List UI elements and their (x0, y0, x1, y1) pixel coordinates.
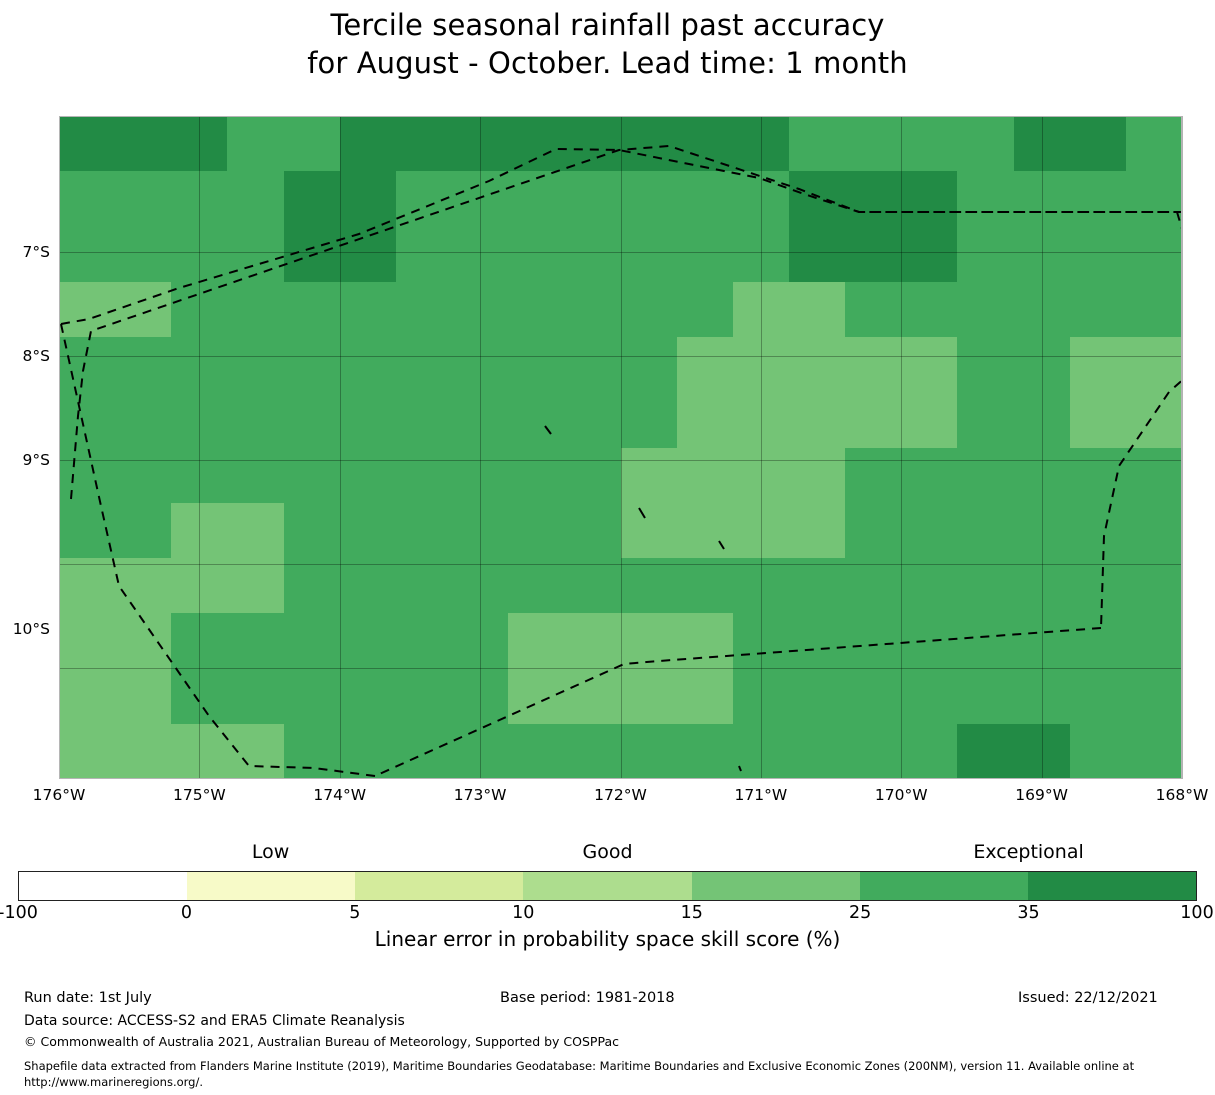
colorbar-band-label: Good (498, 841, 718, 863)
heatmap-cell (901, 669, 957, 724)
heatmap-cell (396, 392, 452, 447)
heatmap-cell (733, 116, 789, 171)
heatmap-cell (115, 392, 171, 447)
heatmap-cell (284, 448, 340, 503)
heatmap-cell (621, 448, 677, 503)
heatmap-cell (901, 282, 957, 337)
heatmap-cell (340, 669, 396, 724)
heatmap-cell (115, 613, 171, 668)
heatmap-cell (227, 503, 283, 558)
heatmap-cell (1014, 558, 1070, 613)
heatmap-cell (452, 337, 508, 392)
heatmap-cell (396, 448, 452, 503)
colorbar-segment (692, 872, 860, 900)
heatmap-cell (1070, 282, 1126, 337)
heatmap-cell (115, 669, 171, 724)
heatmap-cell (284, 392, 340, 447)
heatmap-cell (59, 724, 115, 779)
colorbar-segment (1028, 872, 1196, 900)
heatmap-cell (1126, 116, 1182, 171)
heatmap-cell (564, 613, 620, 668)
heatmap-cell (1070, 171, 1126, 226)
heatmap-cell (564, 724, 620, 779)
heatmap-cell (1126, 448, 1182, 503)
heatmap-cell (845, 116, 901, 171)
heatmap-cell (957, 724, 1013, 779)
heatmap-cell (171, 724, 227, 779)
heatmap-cell (901, 116, 957, 171)
heatmap-cell (396, 613, 452, 668)
y-axis-tick-label: 8°S (0, 347, 50, 365)
map-plot-area (59, 116, 1182, 779)
heatmap-cell (508, 337, 564, 392)
heatmap-cell (227, 448, 283, 503)
heatmap-cell (340, 558, 396, 613)
footer-base-period: Base period: 1981-2018 (500, 990, 675, 1006)
heatmap-cell (845, 171, 901, 226)
heatmap-cell (171, 116, 227, 171)
heatmap-cell (733, 227, 789, 282)
heatmap-cell (1014, 282, 1070, 337)
heatmap-cell (508, 282, 564, 337)
heatmap-cell (677, 227, 733, 282)
colorbar-segment (19, 872, 187, 900)
heatmap-cell (564, 227, 620, 282)
colorbar-segment (523, 872, 691, 900)
heatmap-cell (59, 503, 115, 558)
heatmap-cell (340, 503, 396, 558)
heatmap-cell (677, 724, 733, 779)
heatmap-cell (171, 613, 227, 668)
heatmap-cell (452, 558, 508, 613)
heatmap-cell (901, 558, 957, 613)
heatmap-cell (227, 227, 283, 282)
heatmap-cell (284, 227, 340, 282)
heatmap-cell (1014, 337, 1070, 392)
heatmap-cell (845, 282, 901, 337)
heatmap-cell (957, 613, 1013, 668)
heatmap-cell (452, 282, 508, 337)
colorbar-tick-label: 100 (1137, 903, 1215, 923)
heatmap-cell (1014, 116, 1070, 171)
heatmap-cell (452, 392, 508, 447)
heatmap-cell (789, 503, 845, 558)
colorbar-tick-label: 15 (632, 903, 752, 923)
colorbar-segment (355, 872, 523, 900)
heatmap-cell (171, 171, 227, 226)
heatmap-cell (115, 558, 171, 613)
colorbar-segment (187, 872, 355, 900)
heatmap-cell (621, 669, 677, 724)
heatmap-cell (621, 171, 677, 226)
colorbar-band-label: Low (161, 841, 381, 863)
heatmap-cell (340, 724, 396, 779)
heatmap-cell (1014, 448, 1070, 503)
heatmap-cell (564, 448, 620, 503)
heatmap-cell (340, 392, 396, 447)
heatmap-cell (845, 724, 901, 779)
heatmap-cell (621, 613, 677, 668)
heatmap-cell (1014, 503, 1070, 558)
heatmap-cell (284, 171, 340, 226)
heatmap-cell (227, 171, 283, 226)
heatmap-cell (452, 724, 508, 779)
heatmap-cell (1126, 392, 1182, 447)
heatmap-cell (845, 613, 901, 668)
heatmap-cell (733, 724, 789, 779)
heatmap-cell (508, 503, 564, 558)
heatmap-cell (396, 669, 452, 724)
heatmap-cell (789, 337, 845, 392)
heatmap-cell (227, 337, 283, 392)
heatmap-cell (677, 448, 733, 503)
heatmap-cell (957, 227, 1013, 282)
heatmap-cell (1070, 724, 1126, 779)
heatmap-cell (845, 558, 901, 613)
heatmap-cell (845, 392, 901, 447)
heatmap-cell (957, 116, 1013, 171)
colorbar-tick-label: 5 (295, 903, 415, 923)
heatmap-cell (396, 116, 452, 171)
heatmap-cell (115, 503, 171, 558)
heatmap-cell (789, 724, 845, 779)
heatmap-cell (115, 724, 171, 779)
heatmap-cell (1014, 392, 1070, 447)
heatmap-cell (733, 392, 789, 447)
footer-data-source: Data source: ACCESS-S2 and ERA5 Climate … (24, 1013, 405, 1029)
rainfall-accuracy-heatmap (59, 116, 1182, 779)
heatmap-cell (1014, 669, 1070, 724)
heatmap-cell (845, 337, 901, 392)
heatmap-cell (115, 282, 171, 337)
heatmap-cell (1126, 337, 1182, 392)
title-line-1: Tercile seasonal rainfall past accuracy (0, 6, 1215, 44)
heatmap-cell (508, 116, 564, 171)
footer-copyright: © Commonwealth of Australia 2021, Austra… (24, 1034, 619, 1049)
heatmap-cell (227, 116, 283, 171)
heatmap-cell (957, 503, 1013, 558)
heatmap-cell (284, 558, 340, 613)
heatmap-cell (1126, 227, 1182, 282)
heatmap-cell (564, 171, 620, 226)
heatmap-cell (508, 227, 564, 282)
heatmap-cell (845, 227, 901, 282)
heatmap-cell (284, 613, 340, 668)
heatmap-cell (1126, 669, 1182, 724)
heatmap-cell (340, 116, 396, 171)
heatmap-cell (1014, 227, 1070, 282)
heatmap-cell (901, 392, 957, 447)
colorbar-segment (860, 872, 1028, 900)
colorbar-tick-label: 0 (126, 903, 246, 923)
x-axis-tick-label: 175°W (154, 786, 244, 804)
heatmap-cell (171, 227, 227, 282)
heatmap-cell (957, 448, 1013, 503)
heatmap-cell (733, 337, 789, 392)
heatmap-cell (452, 116, 508, 171)
heatmap-cell (1070, 503, 1126, 558)
heatmap-cell (901, 613, 957, 668)
page-title: Tercile seasonal rainfall past accuracy … (0, 6, 1215, 82)
gridline-vertical (1182, 116, 1183, 779)
x-axis-tick-label: 172°W (576, 786, 666, 804)
heatmap-cell (1014, 613, 1070, 668)
heatmap-cell (621, 227, 677, 282)
heatmap-cell (1070, 337, 1126, 392)
heatmap-cell (621, 558, 677, 613)
heatmap-cell (845, 669, 901, 724)
heatmap-cell (171, 392, 227, 447)
heatmap-cell (733, 558, 789, 613)
heatmap-cell (677, 613, 733, 668)
heatmap-cell (340, 171, 396, 226)
heatmap-cell (677, 337, 733, 392)
heatmap-cell (957, 558, 1013, 613)
heatmap-cell (340, 448, 396, 503)
heatmap-cell (340, 227, 396, 282)
heatmap-cell (171, 337, 227, 392)
heatmap-cell (171, 669, 227, 724)
heatmap-cell (115, 448, 171, 503)
heatmap-cell (621, 116, 677, 171)
heatmap-cell (621, 282, 677, 337)
heatmap-cell (733, 669, 789, 724)
heatmap-cell (227, 724, 283, 779)
y-axis-tick-label: 9°S (0, 451, 50, 469)
heatmap-cell (115, 116, 171, 171)
heatmap-cell (1126, 558, 1182, 613)
heatmap-cell (677, 171, 733, 226)
heatmap-cell (1070, 227, 1126, 282)
colorbar-tick-label: 25 (800, 903, 920, 923)
heatmap-cell (677, 669, 733, 724)
heatmap-cell (396, 558, 452, 613)
heatmap-cell (227, 613, 283, 668)
heatmap-cell (901, 503, 957, 558)
heatmap-cell (508, 171, 564, 226)
heatmap-cell (59, 116, 115, 171)
heatmap-cell (284, 116, 340, 171)
heatmap-cell (508, 724, 564, 779)
heatmap-cell (1126, 724, 1182, 779)
heatmap-cell (452, 448, 508, 503)
heatmap-cell (59, 669, 115, 724)
heatmap-cell (789, 558, 845, 613)
heatmap-cell (677, 282, 733, 337)
heatmap-cell (227, 669, 283, 724)
x-axis-tick-label: 171°W (716, 786, 806, 804)
heatmap-cell (59, 282, 115, 337)
heatmap-cell (396, 724, 452, 779)
heatmap-cell (789, 448, 845, 503)
heatmap-cell (1014, 724, 1070, 779)
colorbar-caption: Linear error in probability space skill … (0, 927, 1215, 951)
heatmap-cell (284, 337, 340, 392)
heatmap-cell (901, 337, 957, 392)
heatmap-cell (1070, 116, 1126, 171)
heatmap-cell (789, 227, 845, 282)
heatmap-cell (733, 171, 789, 226)
heatmap-cell (621, 392, 677, 447)
heatmap-cell (621, 724, 677, 779)
heatmap-cell (340, 613, 396, 668)
heatmap-cell (396, 503, 452, 558)
heatmap-cell (115, 171, 171, 226)
heatmap-cell (957, 669, 1013, 724)
heatmap-cell (677, 558, 733, 613)
heatmap-cell (733, 613, 789, 668)
colorbar-tick-label: 10 (463, 903, 583, 923)
heatmap-cell (115, 227, 171, 282)
heatmap-cell (789, 171, 845, 226)
footer-run-date: Run date: 1st July (24, 990, 152, 1006)
heatmap-cell (340, 282, 396, 337)
heatmap-cell (789, 282, 845, 337)
heatmap-cell (340, 337, 396, 392)
heatmap-cell (59, 171, 115, 226)
heatmap-cell (59, 558, 115, 613)
heatmap-cell (621, 337, 677, 392)
heatmap-cell (564, 503, 620, 558)
heatmap-cell (452, 669, 508, 724)
heatmap-cell (789, 392, 845, 447)
heatmap-cell (396, 337, 452, 392)
heatmap-cell (677, 116, 733, 171)
colorbar-tick-label: 35 (969, 903, 1089, 923)
heatmap-cell (789, 613, 845, 668)
footer-issued: Issued: 22/12/2021 (1018, 990, 1158, 1006)
heatmap-cell (1014, 171, 1070, 226)
heatmap-cell (59, 337, 115, 392)
x-axis-tick-label: 174°W (295, 786, 385, 804)
title-line-2: for August - October. Lead time: 1 month (0, 44, 1215, 82)
heatmap-cell (396, 171, 452, 226)
heatmap-cell (284, 669, 340, 724)
x-axis-tick-label: 176°W (14, 786, 104, 804)
heatmap-cell (845, 503, 901, 558)
heatmap-cell (957, 337, 1013, 392)
heatmap-cell (901, 171, 957, 226)
x-axis-tick-label: 170°W (856, 786, 946, 804)
heatmap-cell (396, 227, 452, 282)
heatmap-cell (452, 171, 508, 226)
heatmap-cell (564, 116, 620, 171)
heatmap-cell (452, 503, 508, 558)
heatmap-cell (1070, 392, 1126, 447)
footer-shapefile-note: Shapefile data extracted from Flanders M… (24, 1058, 1199, 1090)
heatmap-cell (845, 448, 901, 503)
heatmap-cell (564, 669, 620, 724)
heatmap-cell (284, 724, 340, 779)
heatmap-cell (957, 171, 1013, 226)
heatmap-cell (171, 282, 227, 337)
heatmap-cell (733, 282, 789, 337)
heatmap-cell (1070, 669, 1126, 724)
heatmap-cell (1126, 282, 1182, 337)
x-axis-tick-label: 168°W (1137, 786, 1215, 804)
heatmap-cell (59, 613, 115, 668)
heatmap-cell (789, 669, 845, 724)
heatmap-cell (508, 392, 564, 447)
heatmap-cell (59, 392, 115, 447)
heatmap-cell (1126, 171, 1182, 226)
heatmap-cell (677, 392, 733, 447)
heatmap-cell (508, 669, 564, 724)
heatmap-cell (115, 337, 171, 392)
heatmap-cell (901, 448, 957, 503)
heatmap-cell (733, 448, 789, 503)
heatmap-cell (1126, 503, 1182, 558)
heatmap-cell (677, 503, 733, 558)
heatmap-cell (508, 613, 564, 668)
heatmap-cell (171, 448, 227, 503)
heatmap-cell (1126, 613, 1182, 668)
heatmap-cell (564, 558, 620, 613)
x-axis-tick-label: 169°W (997, 786, 1087, 804)
heatmap-cell (171, 503, 227, 558)
heatmap-cell (957, 392, 1013, 447)
heatmap-cell (564, 337, 620, 392)
heatmap-cell (1070, 558, 1126, 613)
colorbar-tick-label: -100 (0, 903, 78, 923)
heatmap-cell (284, 503, 340, 558)
figure-root: Tercile seasonal rainfall past accuracy … (0, 0, 1215, 1095)
heatmap-cell (901, 227, 957, 282)
heatmap-cell (1070, 613, 1126, 668)
heatmap-cell (227, 282, 283, 337)
heatmap-cell (564, 282, 620, 337)
heatmap-cell (284, 282, 340, 337)
heatmap-cell (621, 503, 677, 558)
x-axis-tick-label: 173°W (435, 786, 525, 804)
heatmap-cell (957, 282, 1013, 337)
heatmap-cell (452, 613, 508, 668)
heatmap-cell (901, 724, 957, 779)
heatmap-cell (564, 392, 620, 447)
heatmap-cell (1070, 448, 1126, 503)
heatmap-cell (452, 227, 508, 282)
heatmap-cell (59, 448, 115, 503)
colorbar-band-label: Exceptional (919, 841, 1139, 863)
colorbar (18, 871, 1197, 901)
heatmap-cell (227, 392, 283, 447)
heatmap-cell (789, 116, 845, 171)
heatmap-cell (227, 558, 283, 613)
y-axis-tick-label: 7°S (0, 243, 50, 261)
heatmap-cell (508, 558, 564, 613)
heatmap-cell (508, 448, 564, 503)
heatmap-cell (59, 227, 115, 282)
heatmap-cell (733, 503, 789, 558)
heatmap-cell (171, 558, 227, 613)
y-axis-tick-label: 10°S (0, 620, 50, 638)
heatmap-cell (396, 282, 452, 337)
